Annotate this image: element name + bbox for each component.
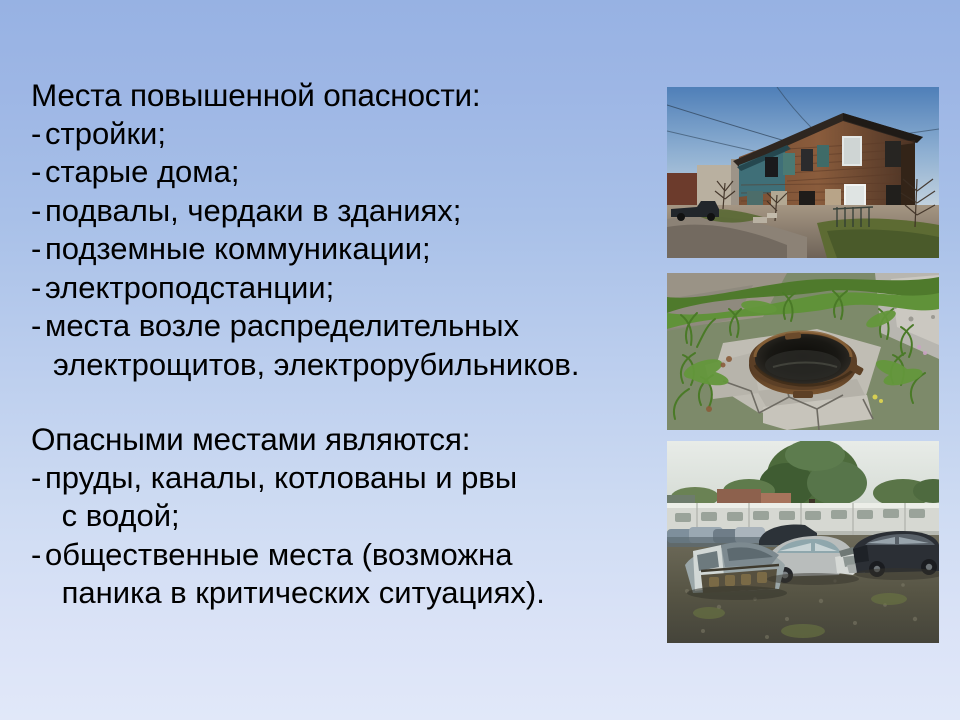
text-column: Места повышенной опасности: - стройки; -… bbox=[31, 76, 661, 613]
list-item-label: стройки; bbox=[45, 115, 166, 154]
list-item-label: общественные места (возможна bbox=[45, 536, 512, 575]
heading-danger-places: Места повышенной опасности: bbox=[31, 76, 661, 115]
old-house-illustration bbox=[667, 87, 939, 258]
list-item-continuation: с водой; bbox=[31, 497, 661, 536]
list-item: - стройки; bbox=[31, 115, 661, 154]
photo-wrecked-cars bbox=[667, 441, 939, 643]
bullet-dash-icon: - bbox=[31, 192, 45, 231]
bullet-dash-icon: - bbox=[31, 230, 45, 269]
list-item: - подвалы, чердаки в зданиях; bbox=[31, 192, 661, 231]
bullet-dash-icon: - bbox=[31, 536, 45, 575]
wrecked-cars-illustration bbox=[667, 441, 939, 643]
list-item-label: подвалы, чердаки в зданиях; bbox=[45, 192, 461, 231]
list-item-label: места возле распределительных bbox=[45, 307, 519, 346]
photo-old-house bbox=[667, 87, 939, 258]
list-item-label: подземные коммуникации; bbox=[45, 230, 431, 269]
list-item-continuation: электрощитов, электрорубильников. bbox=[31, 346, 661, 385]
list-item: - электроподстанции; bbox=[31, 269, 661, 308]
text-block-dangerous-places: Опасными местами являются: - пруды, кана… bbox=[31, 420, 661, 613]
text-block-danger-places: Места повышенной опасности: - стройки; -… bbox=[31, 76, 661, 384]
list-item: - старые дома; bbox=[31, 153, 661, 192]
open-manhole-illustration bbox=[667, 273, 939, 430]
list-item: - места возле распределительных bbox=[31, 307, 661, 346]
bullet-dash-icon: - bbox=[31, 307, 45, 346]
slide-canvas: Места повышенной опасности: - стройки; -… bbox=[0, 0, 960, 720]
list-item: - общественные места (возможна bbox=[31, 536, 661, 575]
list-item-continuation: паника в критических ситуациях). bbox=[31, 574, 661, 613]
list-item: - пруды, каналы, котлованы и рвы bbox=[31, 459, 661, 498]
bullet-dash-icon: - bbox=[31, 269, 45, 308]
list-item-label: старые дома; bbox=[45, 153, 239, 192]
list-item: - подземные коммуникации; bbox=[31, 230, 661, 269]
photo-open-manhole bbox=[667, 273, 939, 430]
bullet-dash-icon: - bbox=[31, 115, 45, 154]
list-item-label: электроподстанции; bbox=[45, 269, 334, 308]
bullet-dash-icon: - bbox=[31, 459, 45, 498]
list-item-label: пруды, каналы, котлованы и рвы bbox=[45, 459, 517, 498]
heading-dangerous-places: Опасными местами являются: bbox=[31, 420, 661, 459]
bullet-dash-icon: - bbox=[31, 153, 45, 192]
block-spacer bbox=[31, 384, 661, 420]
